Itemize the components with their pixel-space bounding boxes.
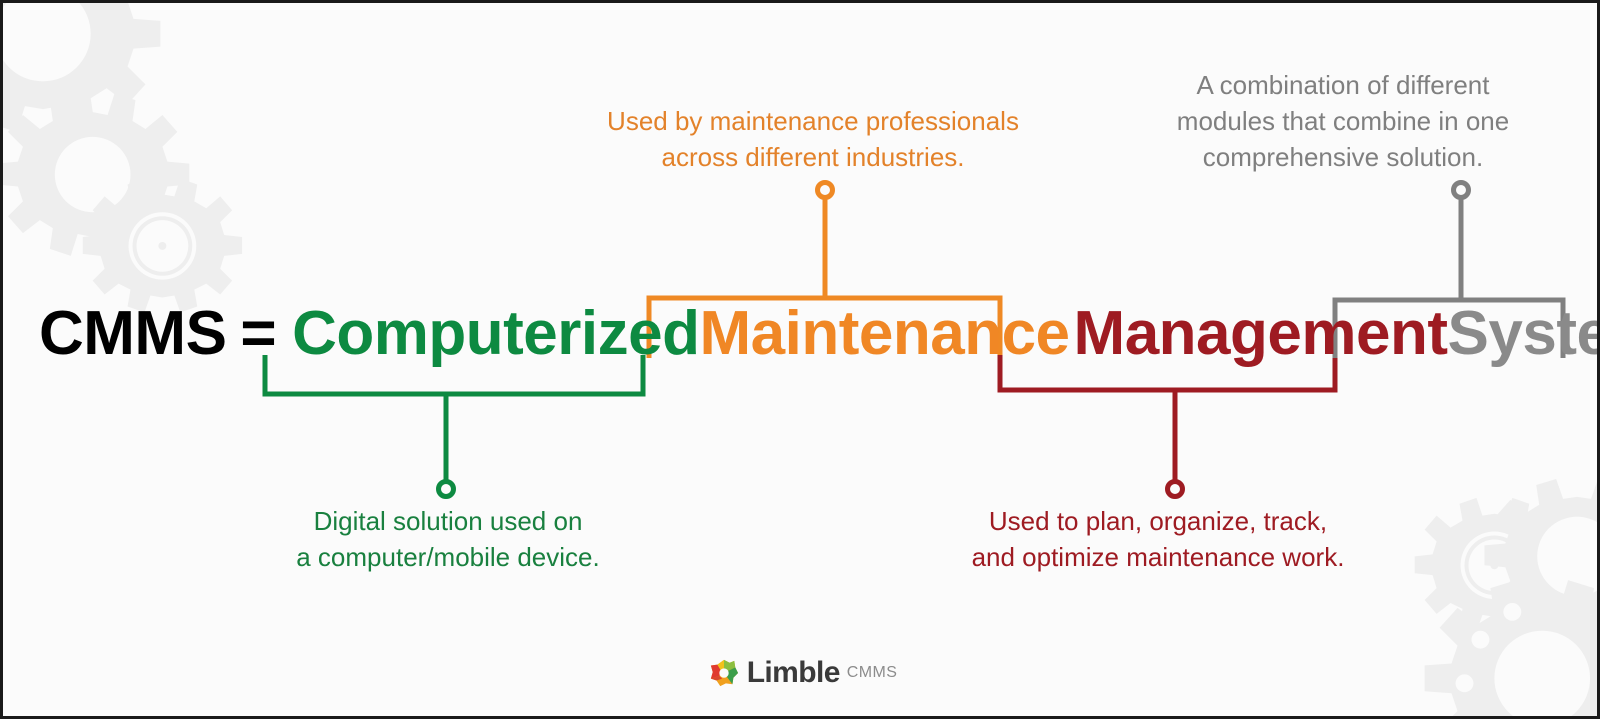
bracket-endpoint-system (1454, 183, 1469, 198)
equals-sign: = (240, 299, 276, 369)
limble-gear-icon (709, 658, 739, 688)
logo-suffix: CMMS (847, 658, 897, 688)
logo-wordmark: Limble (747, 658, 840, 688)
bracket-endpoint-management (1168, 482, 1183, 497)
callout-management-line1: Used to plan, organize, track, (933, 503, 1383, 539)
bracket-management (1000, 355, 1335, 481)
headline-equation: CMMS=ComputerizedMaintenanceManagementSy… (3, 299, 1600, 369)
callout-maintenance: Used by maintenance professionals across… (543, 103, 1083, 175)
callout-computerized: Digital solution used on a computer/mobi… (233, 503, 663, 575)
callout-system: A combination of different modules that … (1123, 67, 1563, 175)
callout-computerized-line2: a computer/mobile device. (233, 539, 663, 575)
infographic-canvas: CMMS=ComputerizedMaintenanceManagementSy… (0, 0, 1600, 719)
bracket-computerized (265, 355, 643, 482)
callout-maintenance-line2: across different industries. (543, 139, 1083, 175)
brand-logo: Limble CMMS (3, 658, 1600, 694)
callout-management: Used to plan, organize, track, and optim… (933, 503, 1383, 575)
headline-word-maintenance: Maintenance (700, 299, 1070, 369)
callout-system-line2: modules that combine in one (1123, 103, 1563, 139)
headline-word-system: System (1448, 299, 1600, 369)
headline-word-computerized: Computerized (292, 299, 699, 369)
bracket-endpoint-computerized (439, 482, 454, 497)
callout-maintenance-line1: Used by maintenance professionals (543, 103, 1083, 139)
bracket-endpoint-maintenance (818, 183, 833, 198)
callout-computerized-line1: Digital solution used on (233, 503, 663, 539)
headline-word-management: Management (1074, 299, 1448, 369)
acronym-cmms: CMMS (39, 299, 226, 369)
callout-management-line2: and optimize maintenance work. (933, 539, 1383, 575)
callout-system-line1: A combination of different (1123, 67, 1563, 103)
callout-system-line3: comprehensive solution. (1123, 139, 1563, 175)
